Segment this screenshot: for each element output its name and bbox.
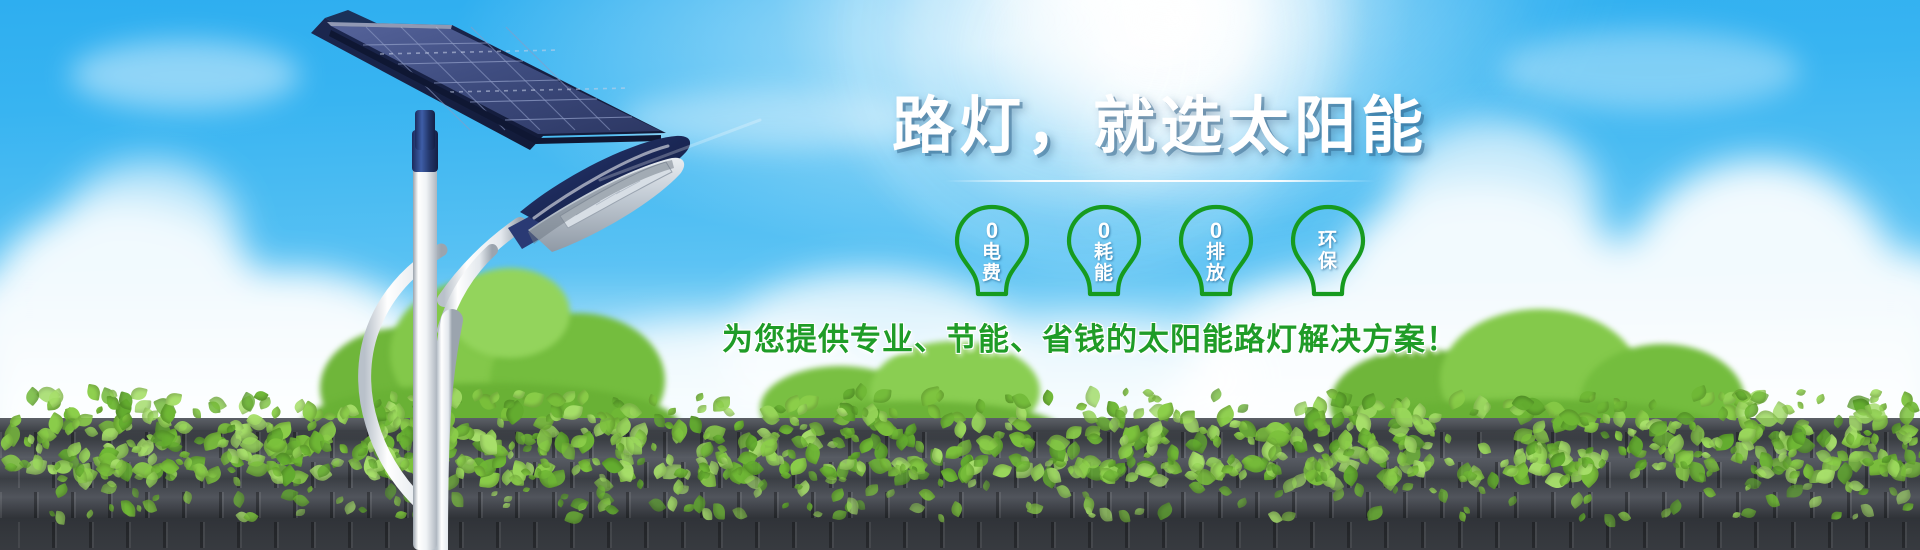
cloud-wisp-1 [70, 40, 300, 110]
solar-street-light-banner: 路灯，就选太阳能 0 电费 0 耗能 [0, 0, 1920, 550]
feature-badge-list: 0 电费 0 耗能 0 排放 [760, 202, 1560, 298]
badge-zero-value: 0 [1098, 220, 1110, 242]
badge-label: 环保 [1318, 231, 1338, 272]
wall-shading [0, 418, 1920, 550]
feature-badge-paifang: 0 排放 [1173, 202, 1259, 298]
tiled-wall [0, 418, 1920, 550]
badge-label: 耗能 [1094, 243, 1114, 283]
banner-subtitle: 为您提供专业、节能、省钱的太阳能路灯解决方案！ [620, 314, 1560, 359]
badge-label: 排放 [1206, 243, 1226, 283]
badge-zero-value: 0 [986, 220, 998, 242]
feature-badge-huanbao: 环保 [1285, 202, 1371, 298]
headline-divider [945, 180, 1375, 182]
feature-badge-haoneng: 0 耗能 [1061, 202, 1147, 298]
feature-badge-dianfei: 0 电费 [949, 202, 1035, 298]
banner-copy: 路灯，就选太阳能 0 电费 0 耗能 [760, 96, 1560, 359]
page-title: 路灯，就选太阳能 [760, 96, 1560, 158]
badge-zero-value: 0 [1210, 220, 1222, 242]
badge-label: 电费 [982, 243, 1002, 283]
